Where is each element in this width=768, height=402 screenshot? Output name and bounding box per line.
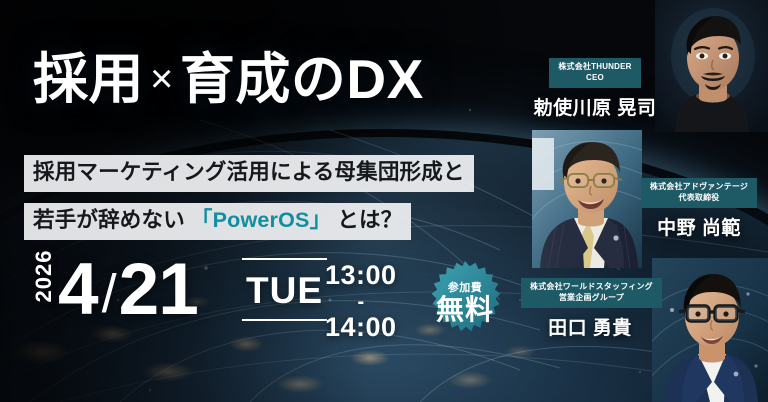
speaker-photo-3	[652, 258, 768, 402]
speaker-2-company: 株式会社アドヴァンテージ	[650, 182, 748, 193]
speaker-1-name: 勅使川原 晃司	[529, 93, 661, 120]
headline-left: 採用	[33, 48, 144, 110]
speaker-3-name: 田口 勇貴	[521, 313, 659, 340]
speaker-block-1: 株式会社THUNDER CEO 勅使川原 晃司	[529, 58, 661, 120]
fee-badge: 参加費 無料	[424, 260, 506, 342]
speaker-3-company: 株式会社ワールドスタッフィング	[530, 282, 653, 293]
subtitle-line-2-prefix: 若手が辞めない	[33, 208, 185, 232]
speaker-3-role: 営業企画グループ	[530, 293, 653, 304]
speaker-photo-2	[532, 130, 642, 268]
speaker-2-role: 代表取締役	[650, 193, 748, 204]
fee-badge-label: 参加費	[448, 279, 483, 295]
event-year: 2026	[30, 238, 58, 314]
event-time-end: 14:00	[325, 312, 397, 342]
event-weekday: TUE	[242, 258, 327, 321]
speaker-1-title-plate: 株式会社THUNDER CEO	[549, 58, 640, 88]
event-date: 4/21	[58, 253, 198, 326]
speaker-1-company: 株式会社THUNDER	[558, 62, 631, 73]
speaker-block-2: 株式会社アドヴァンテージ 代表取締役 中野 尚範	[630, 178, 768, 240]
subtitle-product-name: 「PowerOS」	[191, 208, 331, 232]
event-time: 13:00 - 14:00	[325, 262, 397, 341]
page-title: 採用×育成のDX	[33, 52, 424, 107]
event-time-dash: -	[325, 292, 397, 312]
speaker-2-title-plate: 株式会社アドヴァンテージ 代表取締役	[641, 178, 757, 208]
speaker-photo-1	[655, 0, 768, 132]
speaker-block-3: 株式会社ワールドスタッフィング 営業企画グループ 田口 勇貴	[521, 278, 659, 340]
event-day: 21	[119, 249, 198, 330]
subtitle-line-1-text: 採用マーケティング活用による母集団形成と	[33, 160, 465, 184]
headline-cross-symbol: ×	[150, 57, 174, 101]
speaker-1-role: CEO	[558, 73, 631, 84]
event-time-start: 13:00	[325, 260, 397, 290]
date-separator: /	[102, 267, 117, 321]
subtitle-line-2-suffix: とは？	[337, 208, 402, 232]
webinar-banner: 採用×育成のDX 採用マーケティング活用による母集団形成と 若手が辞めない「Po…	[0, 0, 768, 402]
fee-badge-value: 無料	[436, 296, 494, 324]
headline-right: 育成のDX	[180, 48, 424, 110]
subtitle-line-2: 若手が辞めない「PowerOS」とは？	[24, 203, 411, 240]
subtitle-line-1: 採用マーケティング活用による母集団形成と	[24, 155, 474, 192]
speaker-2-name: 中野 尚範	[630, 213, 768, 240]
event-month: 4	[58, 249, 98, 330]
speaker-3-title-plate: 株式会社ワールドスタッフィング 営業企画グループ	[521, 278, 662, 308]
